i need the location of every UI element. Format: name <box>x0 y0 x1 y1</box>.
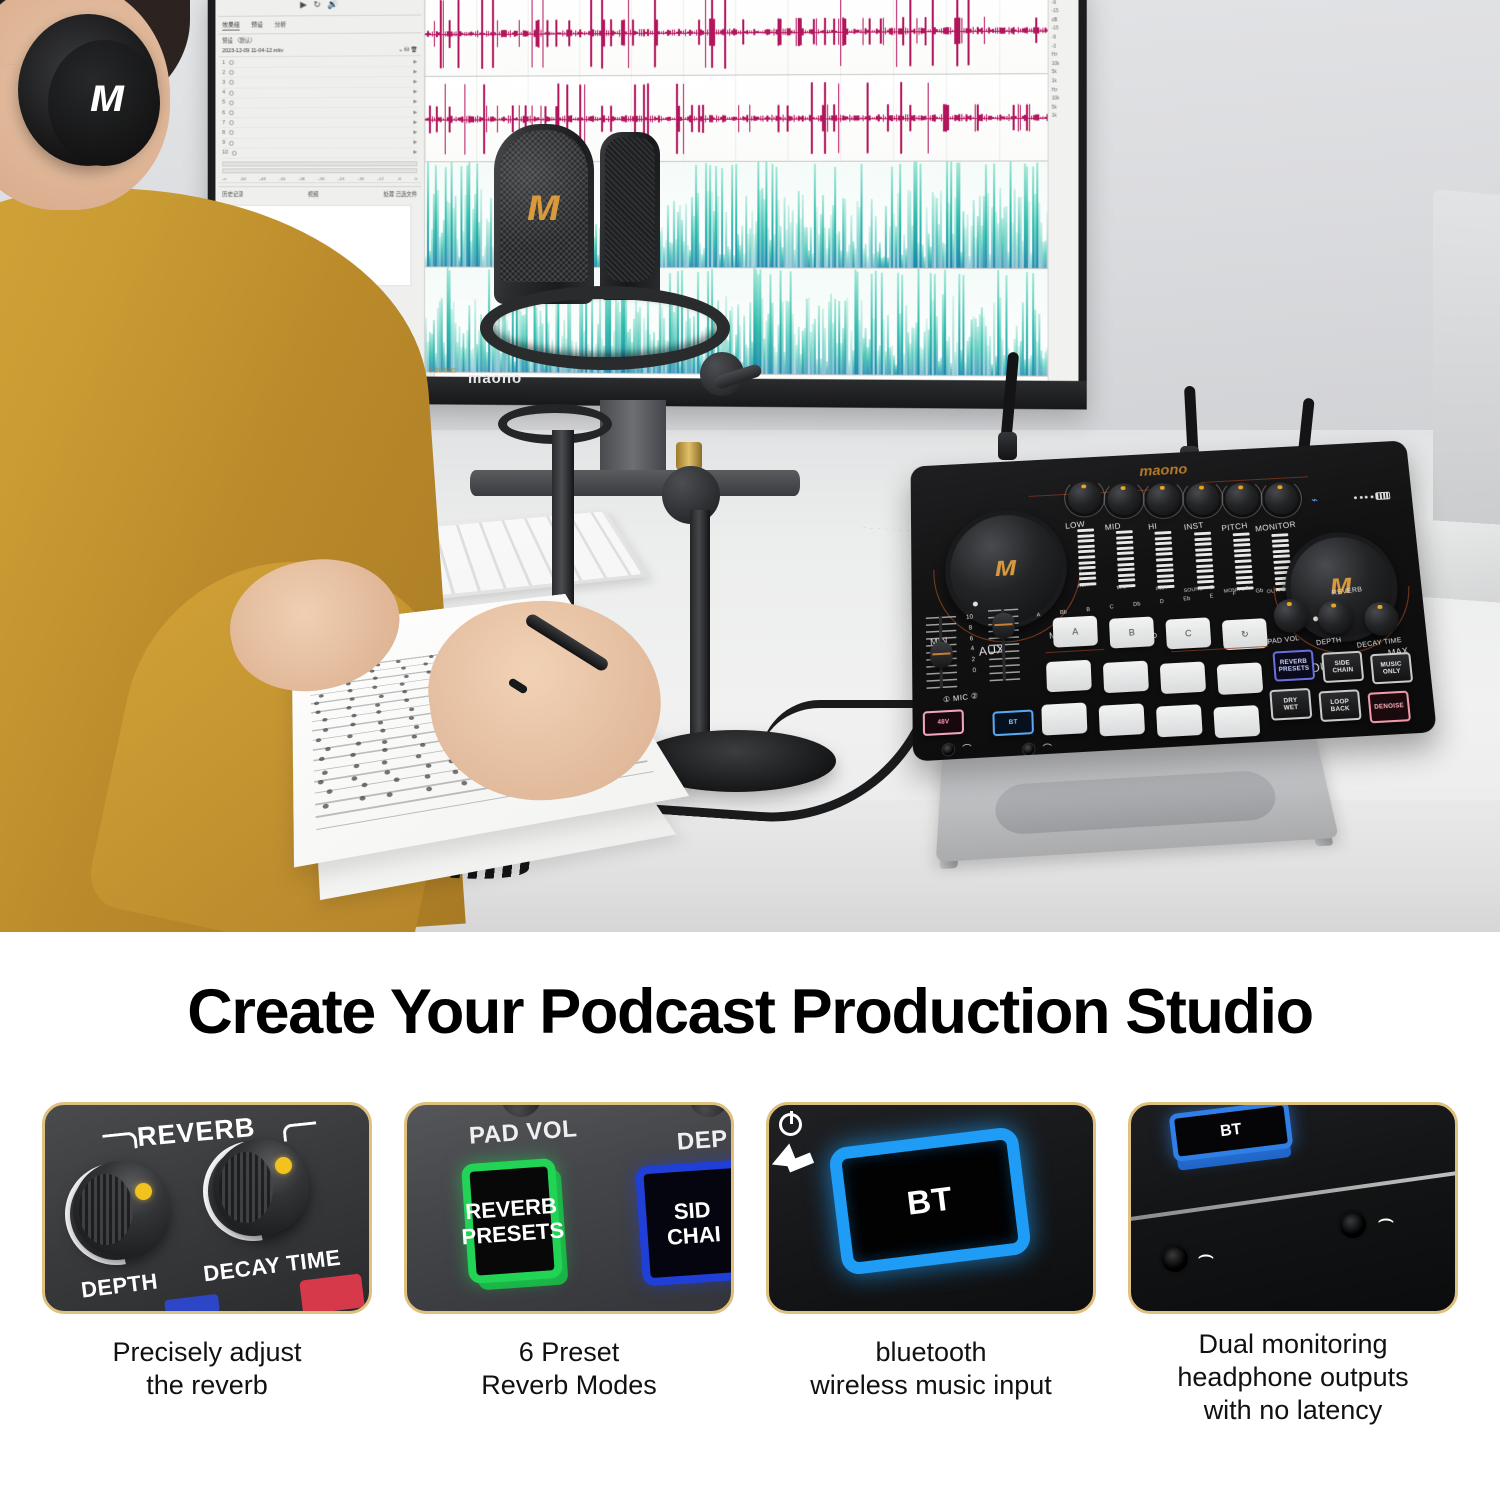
laptop-screen <box>1433 189 1500 563</box>
headphone-icon: ⌒ <box>1042 741 1052 755</box>
knob-indicator <box>1287 602 1292 607</box>
headphone-icon: ⌢ <box>1377 1205 1395 1232</box>
db-tick: 0 <box>415 176 417 181</box>
daw-transport-controls[interactable]: ▶ ↻ 🔊 <box>218 0 421 17</box>
vertical-ruler: -3 -9 -15 dB -15 -9 -3 Hz 10k 5k 1k Hz 1… <box>1048 0 1079 381</box>
db-tick: -∞ <box>222 176 226 181</box>
chevron-right-icon[interactable]: ▶ <box>413 109 417 115</box>
output-gain-slider[interactable] <box>222 168 417 173</box>
rack-slot-number: 1 <box>222 60 225 66</box>
rack-slot-number: 3 <box>222 80 225 86</box>
feature-caption-1: Precisely adjust the reverb <box>42 1336 372 1402</box>
tab-effects[interactable]: 效果组 <box>222 20 239 31</box>
power-dot-icon[interactable] <box>229 100 234 105</box>
note-label: F <box>1233 591 1237 597</box>
rack-slot[interactable]: 7▶ <box>222 118 417 129</box>
soundpad-c[interactable]: C <box>1165 617 1211 649</box>
rack-slot[interactable]: 8▶ <box>222 128 417 139</box>
soundpad-pad[interactable] <box>1160 661 1206 694</box>
feature-thumbnail-bluetooth: BT <box>766 1102 1096 1314</box>
monitor-stand-neck <box>600 400 666 478</box>
fader-cap[interactable] <box>930 641 953 668</box>
ruler-tick: -15 <box>1049 7 1079 16</box>
daw-rack-list: 1▶ 2▶ 3▶ 4▶ 5▶ 6▶ 7▶ 8▶ 9▶ 10▶ <box>218 56 421 159</box>
knob-indicator-dot <box>135 1183 152 1200</box>
note-label: Db <box>1133 601 1141 608</box>
feature-card-reverb-presets: PAD VOL DEP REVERB PRESETS SID CHAI 6 Pr… <box>404 1102 734 1427</box>
note-label: C <box>1109 604 1114 610</box>
db-tick: -54 <box>240 176 246 181</box>
power-dot-icon[interactable] <box>229 130 234 135</box>
headphone-jack-2[interactable] <box>1337 1209 1369 1241</box>
chevron-right-icon[interactable]: ▶ <box>413 69 417 75</box>
mic-stand-pole <box>690 510 710 742</box>
monitor-label: MONITOR <box>1254 519 1296 533</box>
note-label: Eb <box>1183 596 1190 603</box>
meter-label-inst: INST <box>1155 585 1168 592</box>
volume-icon[interactable]: 🔊 <box>328 0 339 10</box>
btn-line2: BACK <box>1330 705 1350 713</box>
ruler-tick: -9 <box>1049 33 1079 42</box>
rack-slot-number: 4 <box>222 90 225 96</box>
knob-indicator <box>1377 605 1382 610</box>
aux-knob-indicator <box>973 601 978 606</box>
rack-slot[interactable]: 9▶ <box>222 138 417 148</box>
feature-thumbnail-reverb-presets: PAD VOL DEP REVERB PRESETS SID CHAI <box>404 1102 734 1314</box>
power-dot-icon[interactable] <box>229 120 234 125</box>
waveform-track-left[interactable] <box>425 0 1078 77</box>
note-label: Bb <box>1060 609 1067 616</box>
soundpad-pad[interactable] <box>1103 661 1149 694</box>
knob-indicator <box>1160 486 1165 490</box>
arrow-icon <box>767 1143 799 1176</box>
chevron-right-icon[interactable]: ▶ <box>413 140 417 146</box>
maono-brand-text: maono <box>1139 461 1188 479</box>
rack-slot-number: 6 <box>222 110 225 116</box>
ruler-tick: Hz <box>1049 51 1079 60</box>
power-dot-icon[interactable] <box>229 110 234 115</box>
feature-thumbnail-headphone-outputs: BT ⌢ ⌢ <box>1128 1102 1458 1314</box>
monitor-stand-base <box>470 470 800 496</box>
ruler-tick: 5k <box>1049 103 1079 112</box>
headphone-jack-2[interactable] <box>1022 742 1036 756</box>
note-label: B <box>1086 607 1090 613</box>
timecode-display: 1:20.000 <box>429 368 456 375</box>
caption-line: 6 Preset <box>404 1336 734 1369</box>
caption-line: bluetooth <box>766 1336 1096 1369</box>
rack-slot[interactable]: 4▶ <box>222 87 417 98</box>
loop-icon[interactable]: ↻ <box>314 0 321 10</box>
hero-photo: ▶ ↻ 🔊 效果组 预设 分析 预设 （默认） 2023-12-09 11-04… <box>0 0 1500 932</box>
knob-indicator <box>1238 485 1243 489</box>
feature-caption-4: Dual monitoring headphone outputs with n… <box>1128 1328 1458 1427</box>
maono-logo-icon: м <box>526 176 562 234</box>
btn-line1: SID <box>673 1197 711 1224</box>
battery-indicator <box>1354 492 1391 501</box>
ruler-tick: 1k <box>1049 77 1079 86</box>
headphone-jack-1[interactable] <box>942 743 956 757</box>
db-tick: -24 <box>338 176 344 181</box>
power-icon <box>779 1113 802 1136</box>
db-tick: -30 <box>318 176 324 181</box>
chevron-right-icon[interactable]: ▶ <box>413 129 417 135</box>
depth-label: DEP <box>676 1125 729 1156</box>
knob-indicator <box>1278 485 1283 489</box>
feature-caption-3: bluetooth wireless music input <box>766 1336 1096 1402</box>
page-title: Create Your Podcast Production Studio <box>0 976 1500 1048</box>
power-dot-icon[interactable] <box>232 150 237 155</box>
meter-label-mic: MIC <box>1116 584 1127 591</box>
bluetooth-button[interactable]: BT <box>828 1126 1032 1276</box>
knob-indicator <box>1082 484 1086 488</box>
caption-line: with no latency <box>1128 1394 1458 1427</box>
chevron-right-icon[interactable]: ▶ <box>413 79 417 85</box>
side-chain-button[interactable]: SIDECHAIN <box>1321 651 1364 683</box>
dry-wet-button[interactable]: DRYWET <box>1269 688 1312 721</box>
bluetooth-icon: ⌁ <box>1311 494 1319 507</box>
microphone-body-rear <box>600 132 660 300</box>
db-tick: -36 <box>299 176 305 181</box>
decay-time-knob[interactable] <box>213 1139 309 1235</box>
ruler-tick: -3 <box>1049 42 1079 51</box>
power-dot-icon[interactable] <box>229 90 234 95</box>
power-dot-icon[interactable] <box>229 80 234 85</box>
chevron-right-icon[interactable]: ▶ <box>413 150 417 156</box>
chevron-right-icon[interactable]: ▶ <box>413 99 417 105</box>
red-button-edge <box>299 1273 365 1314</box>
btn-line2: CHAIN <box>1332 666 1353 674</box>
soundpad-a[interactable]: A <box>1053 616 1098 648</box>
shock-mount-brand: maono <box>468 370 578 392</box>
meter-soundpad <box>1194 532 1215 592</box>
rack-slot[interactable]: 5▶ <box>222 98 417 109</box>
rack-slot-number: 10 <box>222 150 228 156</box>
knob-indicator-dot <box>275 1157 292 1174</box>
power-dot-icon[interactable] <box>229 70 234 75</box>
feature-grid: REVERB DEPTH DECAY TIME Precisely adjust… <box>42 1102 1458 1427</box>
headphone-icon: ⌢ <box>1197 1241 1215 1268</box>
ruler-tick: 10k <box>1049 94 1079 103</box>
rack-slot-number: 2 <box>222 70 225 76</box>
daw-file-name: 2023-12-09 11-04-12.mkv <box>222 48 283 54</box>
knob-top-edge-icon <box>689 1102 729 1117</box>
inst-label: INST <box>1183 520 1204 532</box>
shock-mount-ring <box>480 286 730 370</box>
ruler-tick: 5k <box>1049 68 1079 77</box>
play-icon[interactable]: ▶ <box>300 0 307 10</box>
daw-tab-bar[interactable]: 效果组 预设 分析 <box>218 15 421 34</box>
db-tick: -6 <box>397 176 401 181</box>
meter-inst <box>1154 531 1174 591</box>
soundpad-pad[interactable] <box>1217 662 1264 695</box>
maono-logo-icon: м <box>995 550 1018 584</box>
daw-history-bar[interactable]: 历史记录 视频 处理 己选文件 <box>218 186 421 201</box>
process-label[interactable]: 处理 己选文件 <box>383 190 417 198</box>
side-chain-button[interactable]: SID CHAI <box>635 1159 734 1286</box>
power-dot-icon[interactable] <box>229 140 234 145</box>
hi-label: HI <box>1148 521 1158 532</box>
db-scale: -∞ -54 -48 -40 -36 -30 -24 -18 -12 -6 0 <box>218 175 421 183</box>
knob-indicator <box>1199 486 1204 490</box>
rack-slot-number: 5 <box>222 100 225 106</box>
denoise-button[interactable]: DENOISE <box>1367 691 1411 724</box>
daw-file-icons[interactable]: ⌄ ⛁ 🗑 <box>398 47 417 53</box>
soundpad-pad[interactable] <box>1099 703 1145 736</box>
pad-vol-label: PAD VOL <box>1267 635 1300 646</box>
btn-line2: ONLY <box>1383 668 1401 676</box>
feature-caption-2: 6 Preset Reverb Modes <box>404 1336 734 1402</box>
rack-slot-number: 8 <box>222 130 225 136</box>
pad-vol-label: PAD VOL <box>468 1115 578 1150</box>
power-dot-icon[interactable] <box>229 60 234 65</box>
btn-line2: CHAI <box>666 1221 721 1250</box>
caption-line: Reverb Modes <box>404 1369 734 1402</box>
btn-line2: PRESETS <box>1278 665 1309 674</box>
mic-channel-label: ① MIC ② <box>943 691 979 704</box>
mixer-plug-1 <box>998 432 1017 460</box>
bracket-right-icon <box>282 1121 318 1141</box>
waveform-bars <box>425 0 1078 76</box>
battery-icon <box>1375 492 1390 500</box>
tab-presets[interactable]: 预设 <box>251 20 263 31</box>
caption-line: Dual monitoring <box>1128 1328 1458 1361</box>
feature-card-headphone-outputs: BT ⌢ ⌢ Dual monitoring headphone outputs… <box>1128 1102 1458 1427</box>
stand-slot <box>995 770 1280 836</box>
bluetooth-button[interactable]: BT <box>1169 1102 1294 1162</box>
bracket-left-icon <box>102 1131 138 1151</box>
headphone-jack-1[interactable] <box>1159 1243 1191 1275</box>
maono-logo-icon: м <box>90 66 124 128</box>
meter-mic <box>1116 530 1136 590</box>
device-edge-highlight <box>1128 1168 1458 1222</box>
caption-line: the reverb <box>42 1369 372 1402</box>
soundpad-pad[interactable] <box>1156 704 1203 737</box>
ruler-tick: 10k <box>1049 60 1079 69</box>
audio-mixer-device[interactable]: maono м MIN AUX MAX LOW MID HI INST PITC… <box>911 440 1437 761</box>
mic1-fader[interactable] <box>926 615 957 689</box>
video-tab[interactable]: 视频 <box>308 190 319 198</box>
note-label: E <box>1209 593 1213 599</box>
feature-card-reverb-knobs: REVERB DEPTH DECAY TIME Precisely adjust… <box>42 1102 372 1427</box>
history-label: 历史记录 <box>222 190 243 198</box>
soundpad-divider <box>1046 649 1105 653</box>
feature-section: Create Your Podcast Production Studio RE… <box>0 932 1500 1500</box>
ruler-tick: 1k <box>1049 112 1079 121</box>
reverb-presets-button[interactable]: REVERB PRESETS <box>461 1158 563 1284</box>
rack-slot[interactable]: 6▶ <box>222 108 417 119</box>
chevron-right-icon[interactable]: ▶ <box>413 89 417 95</box>
rack-slot-number: 7 <box>222 120 225 126</box>
note-label: Gb <box>1255 588 1263 595</box>
input-gain-slider[interactable] <box>222 161 417 166</box>
note-label: A <box>1036 612 1040 618</box>
mic2-fader[interactable] <box>988 608 1020 681</box>
microphone-body: м <box>494 124 594 304</box>
ruler-tick: Hz <box>1049 86 1079 95</box>
rack-slot[interactable]: 10▶ <box>222 148 417 158</box>
knob-indicator <box>1331 603 1336 608</box>
fader-cap[interactable] <box>992 612 1015 639</box>
reverb-presets-button[interactable]: REVERBPRESETS <box>1272 649 1315 681</box>
caption-line: Precisely adjust <box>42 1336 372 1369</box>
db-tick: -18 <box>358 176 364 181</box>
phantom-power-button[interactable]: 48V <box>923 709 964 736</box>
headphone-icon: ⌒ <box>962 742 972 756</box>
caption-line: wireless music input <box>766 1369 1096 1402</box>
soundpad-pad[interactable] <box>1213 705 1260 738</box>
knob-top-edge-icon <box>501 1102 541 1117</box>
chevron-right-icon[interactable]: ▶ <box>413 119 417 125</box>
db-tick: -48 <box>260 176 266 181</box>
ruler-tick: dB <box>1049 16 1079 25</box>
feature-card-bluetooth: BT bluetooth wireless music input <box>766 1102 1096 1427</box>
meter-label-aux: AUX <box>1077 582 1089 589</box>
ruler-tick: -15 <box>1049 25 1079 34</box>
scale-tick: 10 <box>966 612 974 623</box>
feature-thumbnail-reverb-knobs: REVERB DEPTH DECAY TIME <box>42 1102 372 1314</box>
btn-line2: WET <box>1283 704 1298 712</box>
bluetooth-button[interactable]: BT <box>992 709 1034 736</box>
depth-knob[interactable] <box>73 1161 169 1257</box>
pitch-label: PITCH <box>1221 520 1248 533</box>
meter-aux <box>1077 528 1096 588</box>
caption-line: headphone outputs <box>1128 1361 1458 1394</box>
loop-back-button[interactable]: LOOPBACK <box>1318 689 1361 722</box>
db-tick: -40 <box>279 176 285 181</box>
depth-label: DEPTH <box>80 1268 160 1303</box>
blue-button-edge <box>164 1294 220 1314</box>
db-tick: -12 <box>378 176 384 181</box>
soundpad-pad[interactable] <box>1041 702 1087 735</box>
tab-analysis[interactable]: 分析 <box>275 19 287 30</box>
chevron-right-icon[interactable]: ▶ <box>413 59 417 65</box>
scale-tick: 0 <box>971 666 979 678</box>
knob-indicator <box>1121 486 1125 490</box>
rack-slot-number: 9 <box>222 140 225 146</box>
note-label: D <box>1160 599 1165 605</box>
meter-monitor <box>1233 532 1254 592</box>
music-only-button[interactable]: MUSICONLY <box>1370 652 1413 684</box>
soundpad-pad[interactable] <box>1046 660 1092 693</box>
